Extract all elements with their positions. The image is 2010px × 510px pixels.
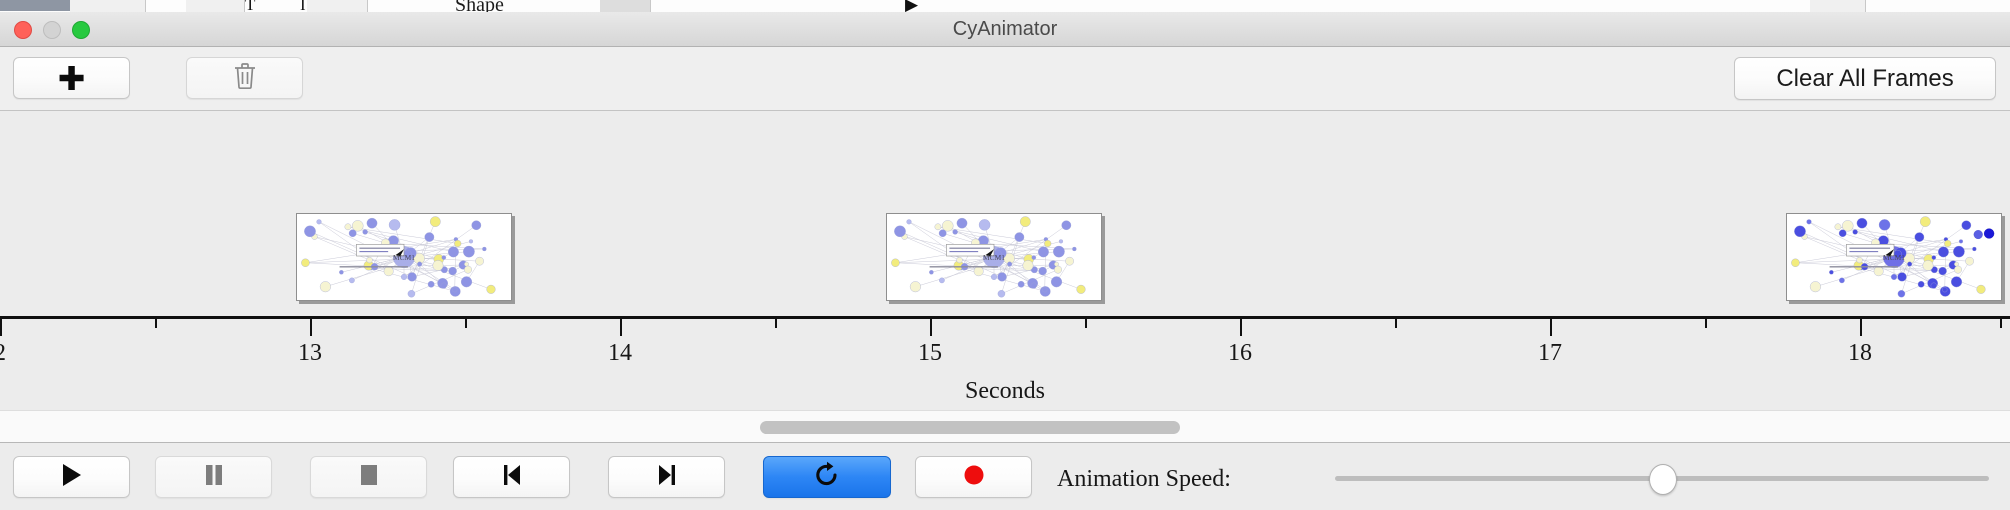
window-title: CyAnimator: [0, 12, 2010, 47]
axis-tick: [1240, 319, 1242, 336]
axis-tick-label: 2: [0, 340, 6, 367]
axis-tick: [930, 319, 932, 336]
frame-thumbnail-2[interactable]: MCM1: [886, 213, 1102, 301]
cyanimator-window: T I ▶ Shape CyAnimator ✚: [0, 0, 2010, 510]
axis-tick: [1085, 319, 1087, 328]
svg-text:MCM1: MCM1: [983, 253, 1005, 262]
loop-icon: [813, 461, 841, 494]
timeline-scrollbar[interactable]: [0, 410, 2010, 443]
trash-icon: [232, 61, 258, 96]
axis-tick: [1550, 319, 1552, 336]
axis-tick-label: 15: [918, 340, 942, 367]
axis-tick: [1705, 319, 1707, 328]
clear-all-frames-label: Clear All Frames: [1776, 65, 1953, 93]
skip-forward-icon: [655, 462, 679, 493]
background-chunk-5: [1810, 0, 1866, 12]
axis-title: Seconds: [0, 378, 2010, 405]
axis-tick-label: 13: [298, 340, 322, 367]
animation-speed-label: Animation Speed:: [1057, 466, 1231, 493]
axis-tick: [620, 319, 622, 336]
background-chunk-1: [70, 0, 146, 12]
axis-tick-label: 18: [1848, 340, 1872, 367]
axis-tick: [155, 319, 157, 328]
skip-to-start-button[interactable]: [453, 456, 570, 498]
axis-tick: [310, 319, 312, 336]
loop-button[interactable]: [763, 456, 891, 498]
axis-tick: [0, 319, 2, 336]
frame-toolbar: ✚ Clear All Frames: [0, 47, 2010, 111]
playback-toolbar: Animation Speed:: [0, 443, 2010, 510]
stop-icon: [357, 462, 381, 493]
axis-tick: [2000, 319, 2002, 328]
axis-tick-label: 14: [608, 340, 632, 367]
axis-tick-label: 17: [1538, 340, 1562, 367]
svg-text:MCM1: MCM1: [1883, 253, 1905, 262]
axis-baseline: [0, 316, 2010, 319]
skip-to-end-button[interactable]: [608, 456, 725, 498]
skip-back-icon: [500, 462, 524, 493]
axis-tick: [465, 319, 467, 328]
background-chunk-2: [186, 0, 245, 12]
delete-frame-button[interactable]: [186, 57, 303, 99]
plus-icon: ✚: [58, 62, 86, 95]
clear-all-frames-button[interactable]: Clear All Frames: [1734, 57, 1996, 100]
record-button[interactable]: [915, 456, 1032, 498]
record-icon: [961, 462, 987, 493]
background-chunk-4: [600, 0, 651, 12]
timeline-frames-area[interactable]: MCM1 MCM1 MCM1: [0, 111, 2010, 316]
axis-tick: [775, 319, 777, 328]
title-bar: CyAnimator: [0, 12, 2010, 47]
background-chunk-3: [307, 0, 368, 12]
time-axis: 2131415161718 Seconds: [0, 316, 2010, 410]
stop-button[interactable]: [310, 456, 427, 498]
background-window-titlebar: [0, 0, 70, 11]
pause-icon: [202, 462, 226, 493]
animation-speed-slider[interactable]: [1335, 476, 1989, 481]
play-icon: [60, 462, 84, 493]
axis-tick-label: 16: [1228, 340, 1252, 367]
play-button[interactable]: [13, 456, 130, 498]
frame-thumbnail-3[interactable]: MCM1: [1786, 213, 2002, 301]
svg-text:MCM1: MCM1: [393, 253, 415, 262]
add-frame-button[interactable]: ✚: [13, 57, 130, 99]
slider-thumb[interactable]: [1649, 464, 1677, 495]
axis-tick: [1860, 319, 1862, 336]
timeline-scrollbar-thumb[interactable]: [760, 421, 1180, 434]
frame-thumbnail-1[interactable]: MCM1: [296, 213, 512, 301]
axis-tick: [1395, 319, 1397, 328]
pause-button[interactable]: [155, 456, 272, 498]
